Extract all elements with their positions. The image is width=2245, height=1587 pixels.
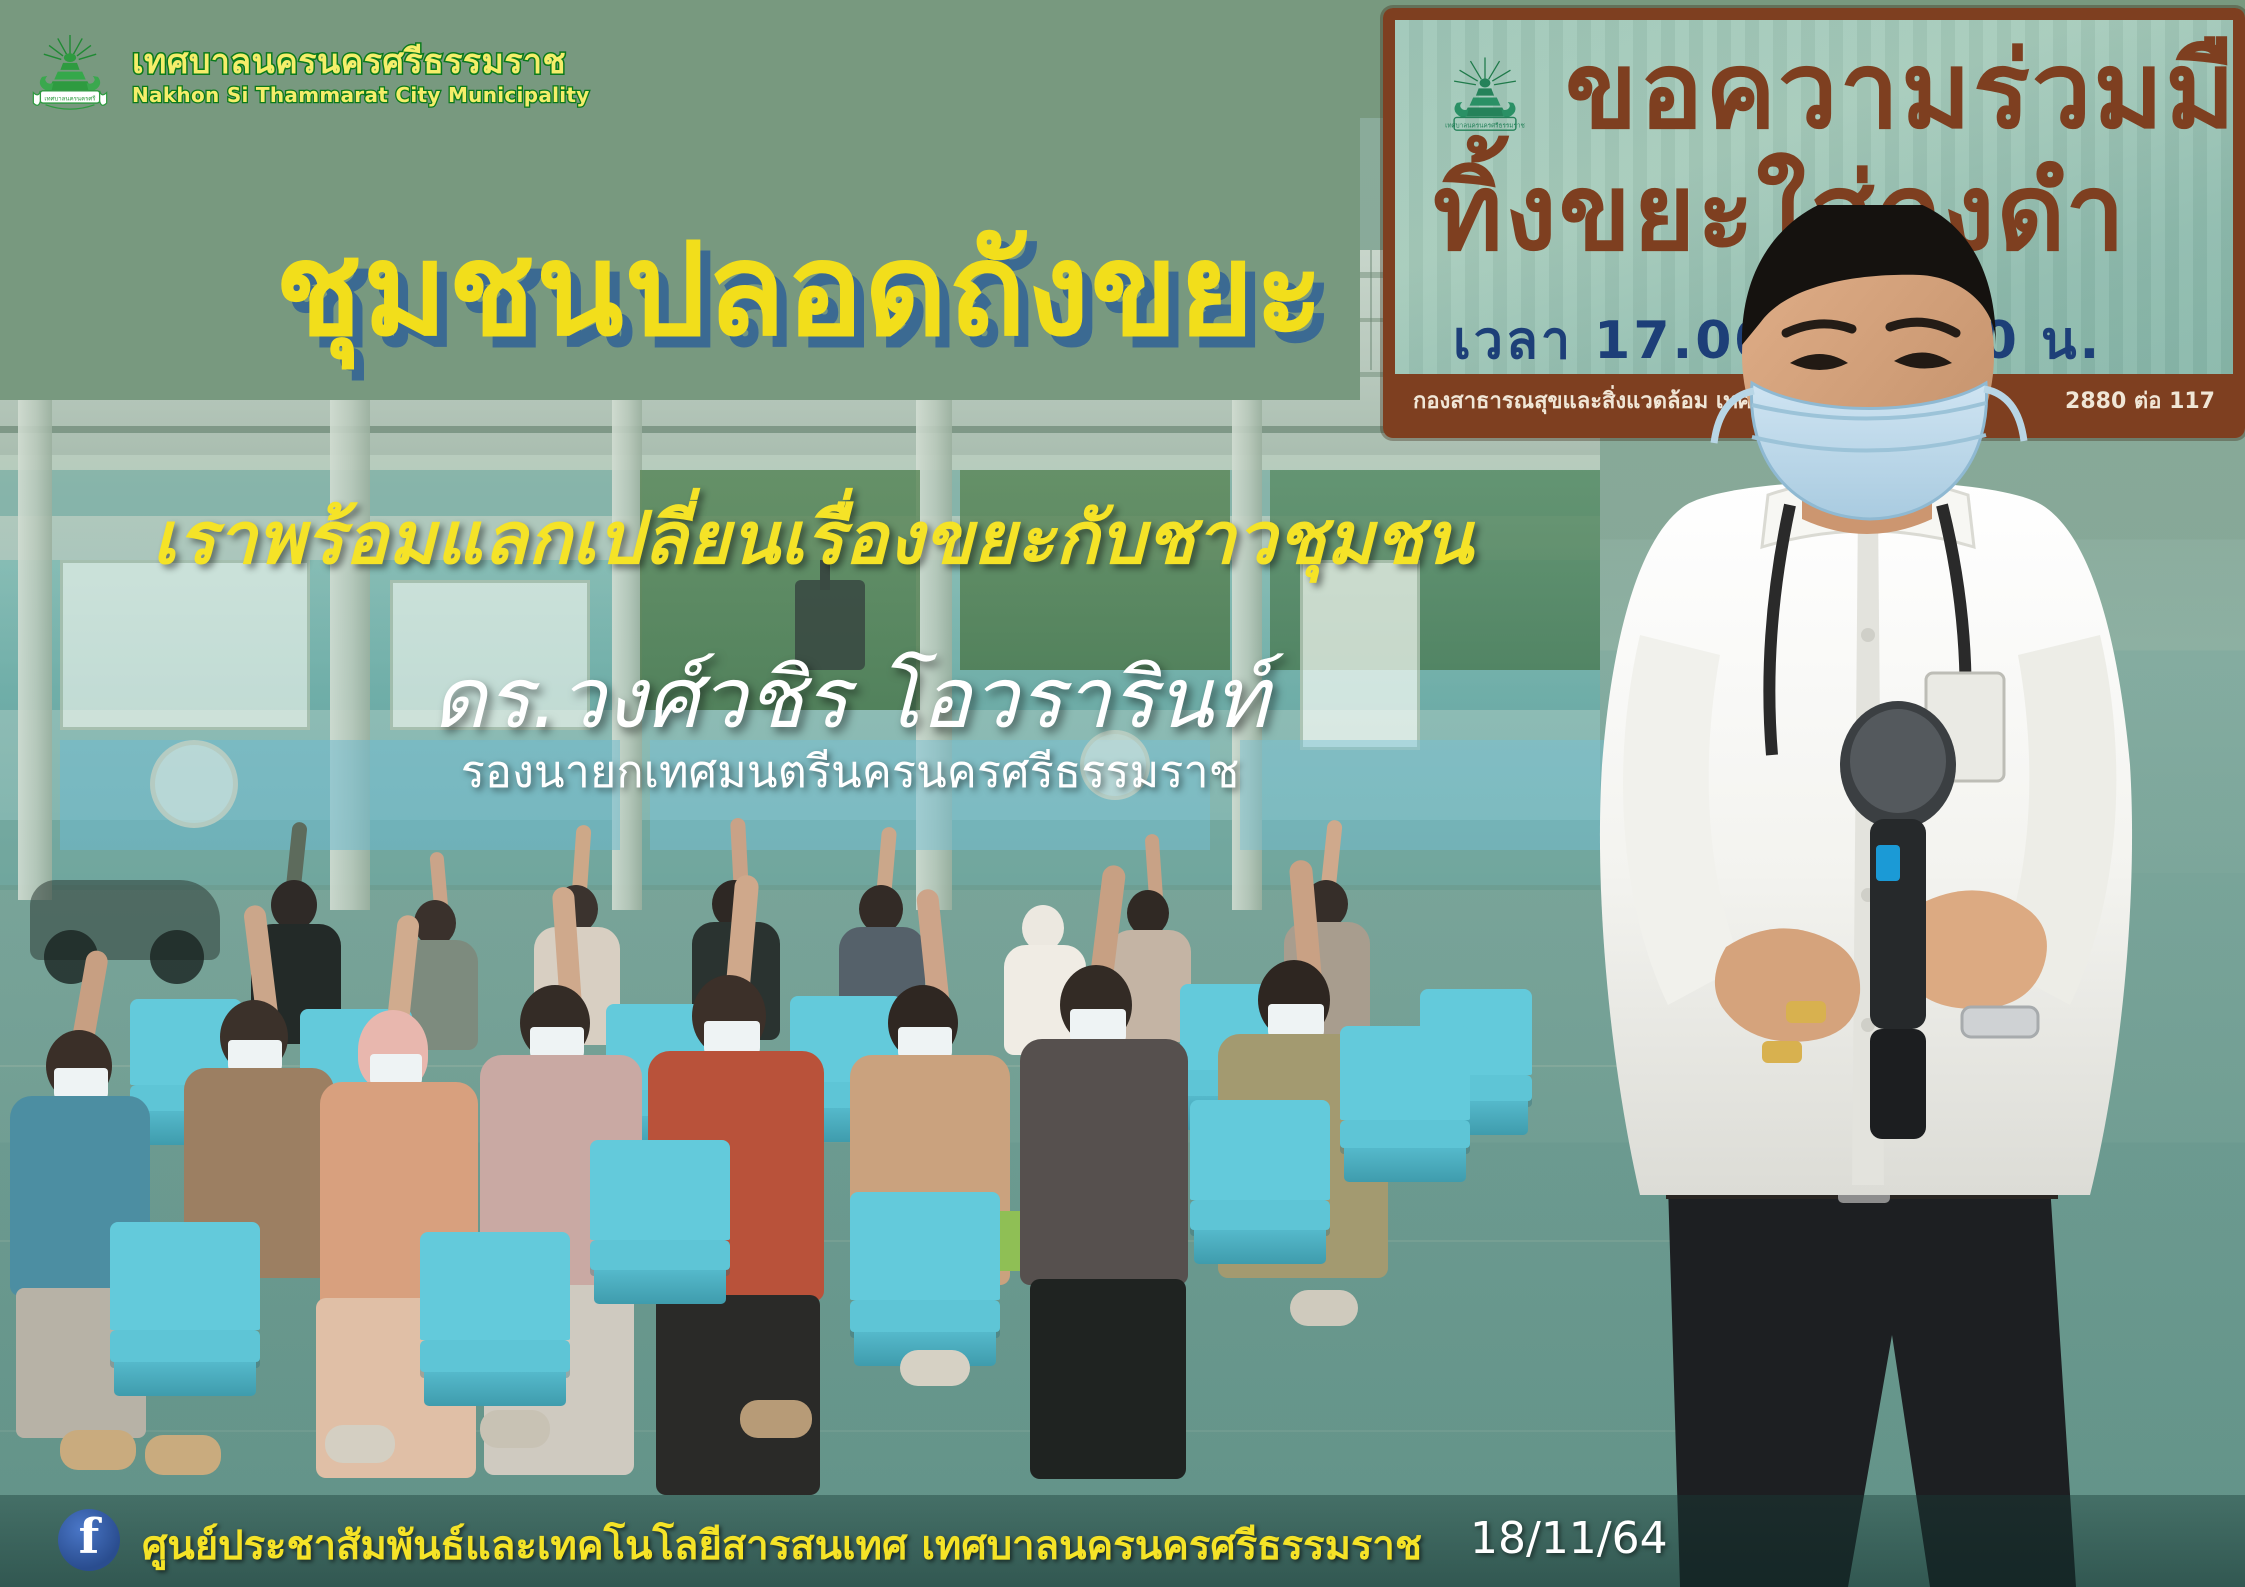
footer-bar: f ศูนย์ประชาสัมพันธ์และเทคโนโลยีสารสนเทศ…	[0, 1495, 2245, 1587]
svg-text:เทศบาลนครนครศรี: เทศบาลนครนครศรี	[44, 94, 96, 102]
footwear	[1290, 1290, 1358, 1326]
mask-strap	[1984, 389, 2024, 441]
footer-credit: ศูนย์ประชาสัมพันธ์และเทคโนโลยีสารสนเทศ เ…	[142, 1513, 1422, 1577]
municipality-header: เทศบาลนครนครศรี เทศบาลนครนครศรีธรรมราช N…	[26, 28, 590, 124]
chair	[1190, 1200, 1330, 1230]
shirt-button	[1861, 628, 1875, 642]
svg-text:เทศบาลนครนครศรีธรรมราช: เทศบาลนครนครศรีธรรมราช	[1445, 121, 1525, 129]
city-crest-icon: เทศบาลนครนครศรีธรรมราช	[1439, 52, 1531, 152]
city-crest-icon: เทศบาลนครนครศรี	[26, 28, 114, 124]
facebook-icon[interactable]: f	[58, 1509, 120, 1571]
microphone-handle	[1870, 1029, 1926, 1139]
footwear	[480, 1410, 550, 1448]
footwear	[740, 1400, 812, 1438]
speaker-role: รองนายกเทศมนตรีนครนครศรีธรรมราช	[0, 735, 1700, 807]
ceiling-beam	[0, 426, 1600, 433]
org-name-english: Nakhon Si Thammarat City Municipality	[132, 83, 590, 107]
page-title: ชุมชนปลอดถังขยะ	[275, 188, 1325, 391]
chair	[1340, 1120, 1470, 1148]
poster-canvas: เทศบาลนครนครศรี เทศบาลนครนครศรีธรรมราช N…	[0, 0, 2245, 1587]
sign-line-1: ขอความร่วมมือ	[1565, 38, 2245, 144]
footer-date: 18/11/64	[1470, 1513, 1668, 1564]
chair	[850, 1300, 1000, 1332]
speaker-photo-cutout	[1490, 205, 2245, 1587]
microphone-logo	[1876, 845, 1900, 881]
chair	[420, 1340, 570, 1372]
motorcycle-wheel	[150, 930, 204, 984]
chair	[110, 1330, 260, 1362]
org-name-thai: เทศบาลนครนครศรีธรรมราช	[132, 45, 590, 81]
wristwatch	[1962, 1007, 2038, 1037]
ring	[1786, 1001, 1826, 1023]
microphone-grille	[1850, 709, 1946, 813]
floor-line	[0, 1430, 1700, 1432]
chair	[590, 1240, 730, 1270]
ring	[1762, 1041, 1802, 1063]
footwear	[60, 1430, 136, 1470]
footwear	[900, 1350, 970, 1386]
ceiling-truss	[1370, 250, 1372, 370]
subtitle-text: เราพร้อมแลกเปลี่ยนเรื่องขยะกับชาวชุมชน	[152, 480, 1473, 595]
footwear	[325, 1425, 395, 1463]
footwear	[145, 1435, 221, 1475]
